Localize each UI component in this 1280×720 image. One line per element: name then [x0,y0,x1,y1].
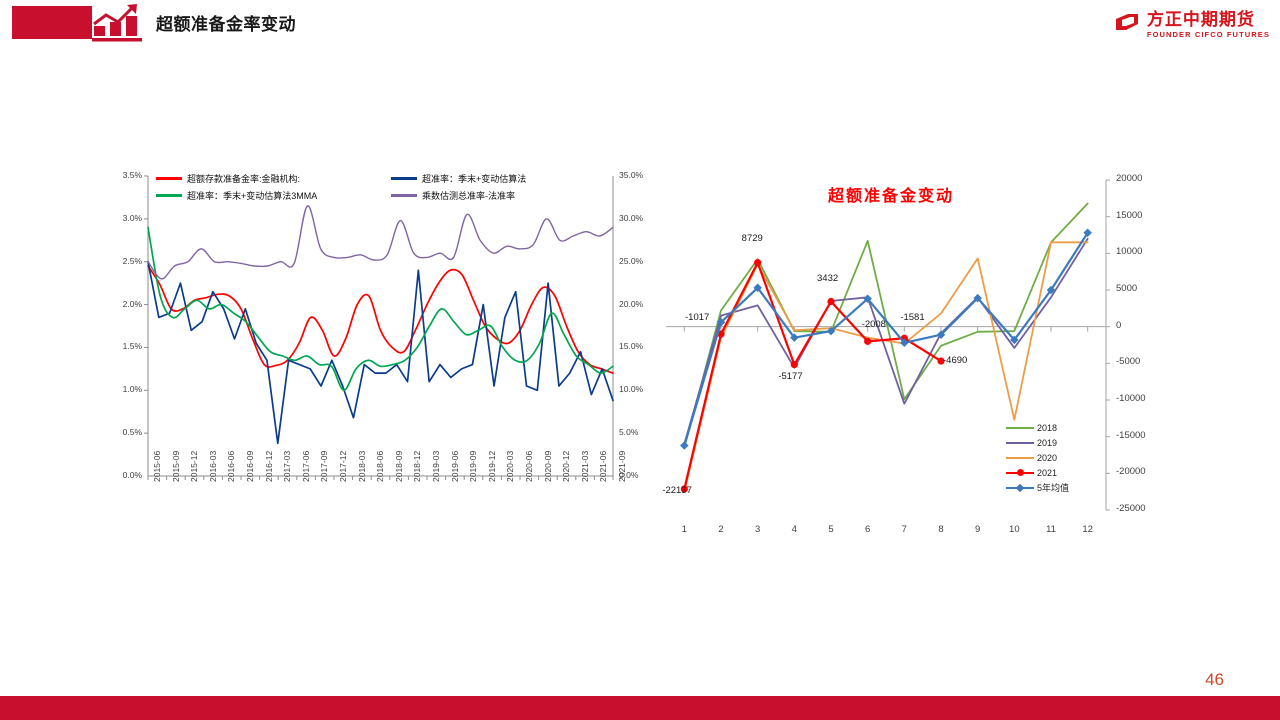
right-marker [680,441,688,449]
left-y2tick: 15.0% [619,341,643,351]
legend-label-2018: 2018 [1037,423,1057,433]
legend-label-2021: 2021 [1037,468,1057,478]
legend-item-2019: 2019 [1006,435,1069,450]
left-xtick: 2021-06 [598,451,608,482]
right-marker [864,338,871,345]
right-xtick: 11 [1043,524,1059,535]
left-ytick: 1.0% [108,384,142,394]
left-xtick: 2019-03 [431,451,441,482]
right-xtick: 4 [786,524,802,535]
left-xtick: 2017-12 [338,451,348,482]
right-marker [827,298,834,305]
left-xtick: 2016-06 [226,451,236,482]
right-data-label: -1017 [685,312,709,323]
left-xtick: 2018-03 [357,451,367,482]
chart-excess-reserve-change: 超额准备金变动 -22137-10178729-51773432-2008-15… [648,170,1168,540]
left-ytick: 0.5% [108,427,142,437]
right-ytick: 0 [1116,320,1121,331]
left-xtick: 2020-03 [505,451,515,482]
left-xtick: 2015-09 [171,451,181,482]
right-data-label: 8729 [742,233,763,244]
left-xtick: 2018-06 [375,451,385,482]
left-xtick: 2020-06 [524,451,534,482]
left-y2tick: 25.0% [619,256,643,266]
legend-item-2018: 2018 [1006,420,1069,435]
left-series-3 [148,206,613,279]
right-xtick: 12 [1080,524,1096,535]
left-xtick: 2017-06 [301,451,311,482]
left-ytick: 0.0% [108,470,142,480]
left-y2tick: 35.0% [619,170,643,180]
right-data-label: 3432 [817,273,838,284]
left-xtick: 2018-09 [394,451,404,482]
left-xtick: 2015-06 [152,451,162,482]
left-y2tick: 5.0% [619,427,638,437]
brand-name-en: FOUNDER CIFCO FUTURES [1147,31,1270,39]
left-chart-svg [148,176,613,476]
header-accent-block [12,6,92,39]
left-xtick: 2016-09 [245,451,255,482]
right-xtick: 5 [823,524,839,535]
left-ytick: 1.5% [108,341,142,351]
left-xtick: 2018-12 [412,451,422,482]
right-ytick: 5000 [1116,283,1137,294]
right-ytick: 10000 [1116,246,1142,257]
right-data-label: -2008 [862,319,886,330]
left-xtick: 2015-12 [189,451,199,482]
left-xtick: 2017-09 [319,451,329,482]
legend-label-2020: 2020 [1037,453,1057,463]
right-xtick: 10 [1006,524,1022,535]
left-ytick: 3.0% [108,213,142,223]
legend-item-2021: 2021 [1006,465,1069,480]
left-xtick: 2020-12 [561,451,571,482]
slide: 超额准备金率变动 方正中期期货 FOUNDER CIFCO FUTURES 超额… [0,0,1280,720]
brand-logo: 方正中期期货 FOUNDER CIFCO FUTURES [1114,8,1270,42]
left-series-2 [148,227,613,390]
right-data-label: -4690 [943,355,967,366]
chart-excess-reserve-ratio: 超额存款准备金率:金融机构: 超准率：季末+变动估算法 超准率：季末+变动估算法… [108,168,658,528]
right-xtick: 2 [713,524,729,535]
right-data-label: -1581 [900,312,924,323]
right-xtick: 9 [970,524,986,535]
left-xtick: 2019-09 [468,451,478,482]
left-plot-area [148,176,613,476]
left-ytick: 3.5% [108,170,142,180]
left-xtick: 2021-03 [580,451,590,482]
right-data-label: -5177 [778,371,802,382]
right-marker [754,259,761,266]
left-xtick: 2019-06 [450,451,460,482]
left-xtick: 2016-12 [264,451,274,482]
left-ytick: 2.0% [108,299,142,309]
right-xtick: 7 [896,524,912,535]
left-xtick: 2020-09 [543,451,553,482]
right-chart-legend: 2018 2019 2020 2021 5年均值 [1006,420,1069,495]
page-number: 46 [1205,670,1224,690]
right-data-label: -22137 [662,485,692,496]
right-xtick: 3 [750,524,766,535]
right-marker [791,361,798,368]
left-series-1 [148,262,613,444]
left-xtick: 2016-03 [208,451,218,482]
left-xtick: 2021-09 [617,451,627,482]
left-y2tick: 20.0% [619,299,643,309]
right-ytick: -5000 [1116,356,1140,367]
right-ytick: -20000 [1116,466,1146,477]
legend-item-2020: 2020 [1006,450,1069,465]
footer-bar [0,696,1280,720]
brand-name-cn: 方正中期期货 [1147,11,1270,28]
chart-growth-icon [90,2,146,42]
left-y2tick: 10.0% [619,384,643,394]
legend-item-5y-avg: 5年均值 [1006,480,1069,495]
right-xtick: 8 [933,524,949,535]
left-xtick: 2017-03 [282,451,292,482]
right-ytick: -25000 [1116,503,1146,514]
legend-label-2019: 2019 [1037,438,1057,448]
left-series-0 [148,266,613,373]
founder-mark-icon [1114,12,1140,38]
right-xtick: 1 [676,524,692,535]
right-ytick: 15000 [1116,210,1142,221]
left-ytick: 2.5% [108,256,142,266]
right-ytick: -15000 [1116,430,1146,441]
right-ytick: -10000 [1116,393,1146,404]
right-xtick: 6 [860,524,876,535]
left-xtick: 2019-12 [487,451,497,482]
left-y2tick: 30.0% [619,213,643,223]
right-ytick: 20000 [1116,173,1142,184]
page-title: 超额准备金率变动 [156,10,296,35]
legend-label-5y-avg: 5年均值 [1037,481,1069,494]
right-series-2021 [684,263,941,489]
